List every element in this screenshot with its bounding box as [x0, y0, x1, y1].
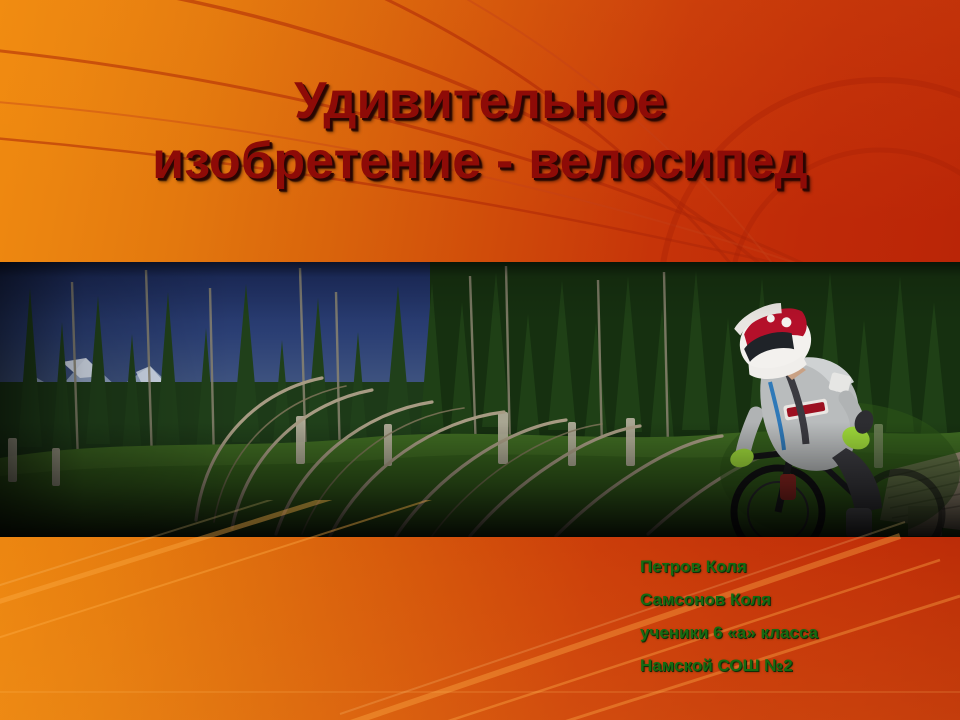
- slide-title-line-1: Удивительное: [0, 72, 960, 132]
- author-line-2: Самсонов Коля: [640, 591, 940, 608]
- photo-mountain-biker: [0, 262, 960, 537]
- slide-title-line-2: изобретение - велосипед: [0, 132, 960, 192]
- slide-title: Удивительное изобретение - велосипед: [0, 72, 960, 192]
- presentation-slide: Удивительное изобретение - велосипед: [0, 0, 960, 720]
- author-line-4: Намской СОШ №2: [640, 657, 940, 674]
- author-line-1: Петров Коля: [640, 558, 940, 575]
- author-credits-block: Петров Коля Самсонов Коля ученики 6 «а» …: [640, 558, 940, 674]
- author-line-3: ученики 6 «а» класса: [640, 624, 940, 641]
